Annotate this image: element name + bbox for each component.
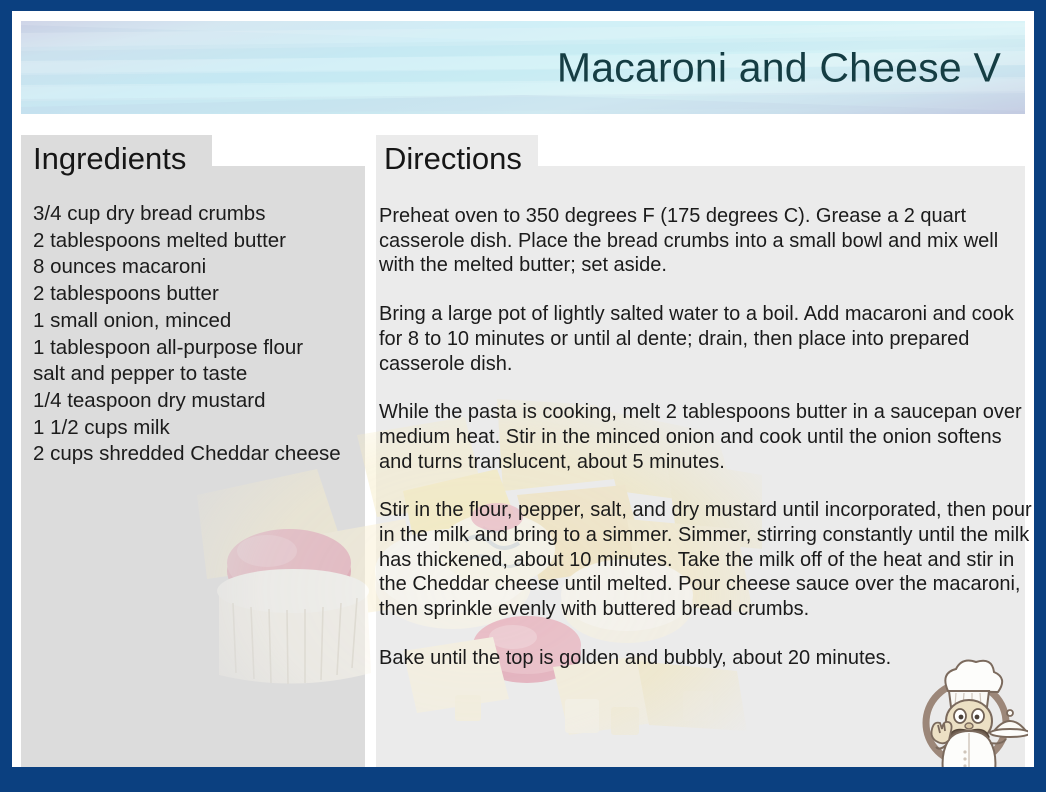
recipe-title: Macaroni and Cheese V <box>557 44 1001 91</box>
ingredient-item: salt and pepper to taste <box>33 361 363 388</box>
direction-step: Bake until the top is golden and bubbly,… <box>379 646 1034 671</box>
directions-heading-tab: Directions <box>376 135 538 183</box>
ingredient-item: 1 small onion, minced <box>33 308 363 335</box>
ingredient-item: 8 ounces macaroni <box>33 254 363 281</box>
ingredient-item: 2 cups shredded Cheddar cheese <box>33 441 363 468</box>
ingredient-item: 3/4 cup dry bread crumbs <box>33 201 363 228</box>
direction-step: While the pasta is cooking, melt 2 table… <box>379 400 1034 474</box>
ingredient-item: 1/4 teaspoon dry mustard <box>33 388 363 415</box>
ingredient-item: 1 1/2 cups milk <box>33 415 363 442</box>
header-banner: Macaroni and Cheese V <box>21 21 1025 114</box>
card-inner-frame: Macaroni and Cheese V <box>12 11 1034 767</box>
ingredient-item: 1 tablespoon all-purpose flour <box>33 335 363 362</box>
directions-steps: Preheat oven to 350 degrees F (175 degre… <box>379 204 1034 671</box>
direction-step: Bring a large pot of lightly salted wate… <box>379 302 1034 376</box>
ingredients-heading-tab: Ingredients <box>21 135 212 183</box>
ingredients-heading: Ingredients <box>33 141 186 177</box>
recipe-card: Macaroni and Cheese V <box>0 0 1046 792</box>
direction-step: Preheat oven to 350 degrees F (175 degre… <box>379 204 1034 278</box>
direction-step: Stir in the flour, pepper, salt, and dry… <box>379 498 1034 622</box>
ingredient-item: 2 tablespoons butter <box>33 281 363 308</box>
ingredients-list: 3/4 cup dry bread crumbs2 tablespoons me… <box>33 201 363 468</box>
ingredient-item: 2 tablespoons melted butter <box>33 228 363 255</box>
directions-heading: Directions <box>384 141 522 177</box>
